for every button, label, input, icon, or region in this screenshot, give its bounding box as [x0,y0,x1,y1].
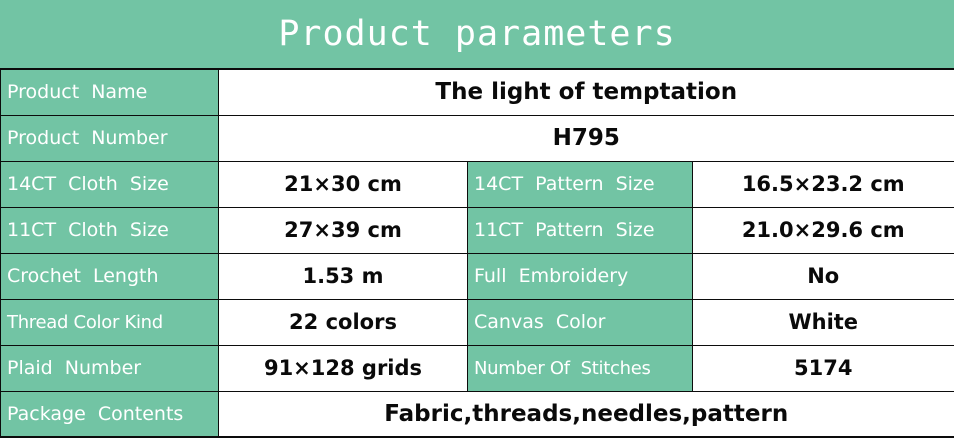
table-row: 11CT Cloth Size 27×39 cm 11CT Pattern Si… [1,207,954,253]
row-label-plaid-number: Plaid Number [1,345,219,391]
row-label-14ct-cloth-size: 14CT Cloth Size [1,161,219,207]
row-value-thread-color-kind: 22 colors [219,299,468,345]
row-value-full-embroidery: No [693,253,954,299]
row-value-14ct-cloth-size: 21×30 cm [219,161,468,207]
row-value-number-of-stitches: 5174 [693,345,954,391]
row-label-product-number: Product Number [1,115,219,161]
row-value-crochet-length: 1.53 m [219,253,468,299]
table-row: 14CT Cloth Size 21×30 cm 14CT Pattern Si… [1,161,954,207]
table-row: Product Number H795 [1,115,954,161]
sheet-header-banner: Product parameters [0,0,954,68]
table-row: Plaid Number 91×128 grids Number Of Stit… [1,345,954,391]
page-title: Product parameters [278,17,675,52]
row-label-number-of-stitches: Number Of Stitches [468,345,693,391]
row-label-canvas-color: Canvas Color [468,299,693,345]
table-row: Crochet Length 1.53 m Full Embroidery No [1,253,954,299]
row-label-crochet-length: Crochet Length [1,253,219,299]
table-row: Package Contents Fabric,threads,needles,… [1,391,954,437]
row-value-14ct-pattern-size: 16.5×23.2 cm [693,161,954,207]
row-label-thread-color-kind: Thread Color Kind [1,299,219,345]
row-value-plaid-number: 91×128 grids [219,345,468,391]
product-parameters-table: Product Name The light of temptation Pro… [0,68,954,438]
row-value-canvas-color: White [693,299,954,345]
row-label-package-contents: Package Contents [1,391,219,437]
row-label-product-name: Product Name [1,69,219,115]
row-value-11ct-pattern-size: 21.0×29.6 cm [693,207,954,253]
row-label-14ct-pattern-size: 14CT Pattern Size [468,161,693,207]
row-value-11ct-cloth-size: 27×39 cm [219,207,468,253]
row-label-11ct-pattern-size: 11CT Pattern Size [468,207,693,253]
table-row: Thread Color Kind 22 colors Canvas Color… [1,299,954,345]
row-label-full-embroidery: Full Embroidery [468,253,693,299]
row-label-11ct-cloth-size: 11CT Cloth Size [1,207,219,253]
row-value-package-contents: Fabric,threads,needles,pattern [219,391,954,437]
table-row: Product Name The light of temptation [1,69,954,115]
product-parameters-sheet: Product parameters Product Name The ligh… [0,0,954,441]
row-value-product-name: The light of temptation [219,69,954,115]
row-value-product-number: H795 [219,115,954,161]
